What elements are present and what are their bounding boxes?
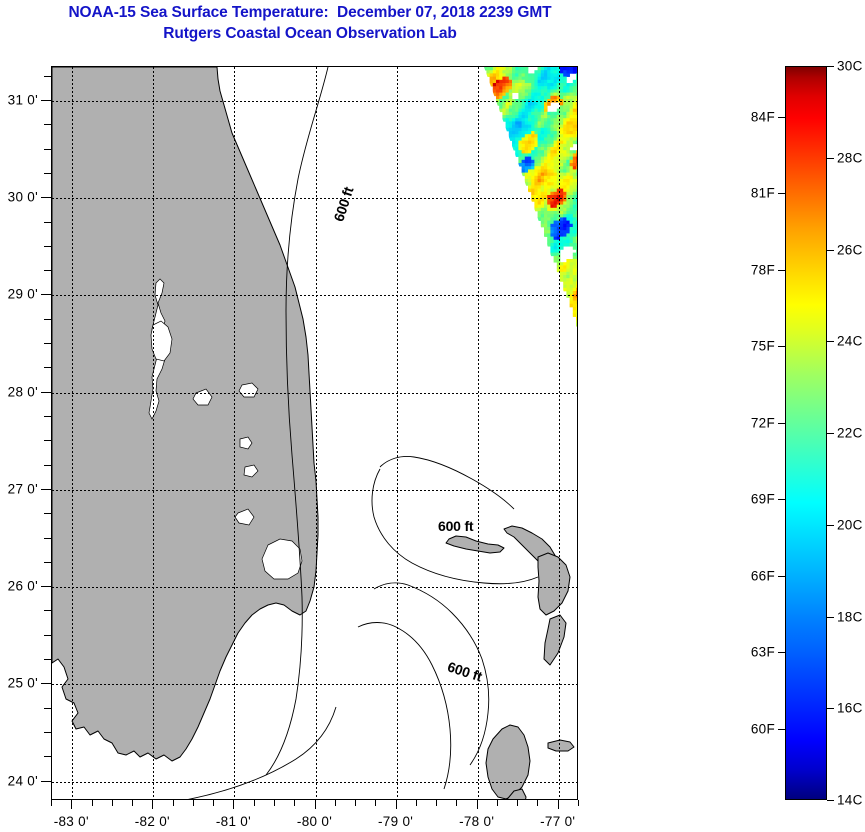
contour-600ft-atlantic — [266, 67, 328, 775]
colorbar-label-celsius-6: 18C — [837, 609, 863, 624]
colorbar-tick-celsius-3 — [827, 341, 834, 342]
xtick-minor — [92, 800, 93, 806]
colorbar-label-fahrenheit-1: 81F — [751, 186, 775, 201]
xtick-minor — [335, 800, 336, 806]
ytick-minor — [44, 756, 51, 757]
ytick-minor — [44, 416, 51, 417]
gridline-lat-1 — [52, 684, 577, 685]
axis-label-lon-2: -81 0' — [216, 814, 251, 829]
xtick-minor — [213, 800, 214, 806]
ytick-minor — [44, 708, 51, 709]
axis-label-lat-0: 24 0' — [0, 773, 38, 788]
ytick-minor — [44, 222, 51, 223]
chart-title: NOAA-15 Sea Surface Temperature: Decembe… — [0, 2, 620, 44]
colorbar-label-fahrenheit-6: 66F — [751, 568, 775, 583]
colorbar-label-celsius-5: 20C — [837, 517, 863, 532]
xtick-minor — [233, 800, 234, 809]
colorbar-tick-fahrenheit-3 — [778, 346, 785, 347]
ytick-minor — [44, 732, 51, 733]
xtick-minor — [173, 800, 174, 806]
ytick-minor — [44, 124, 51, 125]
axis-label-lat-2: 26 0' — [0, 579, 38, 594]
xtick-minor — [294, 800, 295, 806]
axis-label-lat-4: 28 0' — [0, 384, 38, 399]
gridline-lon-4 — [397, 67, 398, 799]
map-plot-area[interactable]: 600 ft600 ft600 ft600 ft600 ft — [51, 66, 578, 800]
colorbar-tick-celsius-2 — [827, 250, 834, 251]
ytick-minor — [44, 343, 51, 344]
ytick-minor — [44, 610, 51, 611]
colorbar-label-celsius-7: 16C — [837, 701, 863, 716]
gridline-lon-6 — [559, 67, 560, 799]
axis-label-lat-3: 27 0' — [0, 481, 38, 496]
axis-label-lat-1: 25 0' — [0, 676, 38, 691]
colorbar-tick-fahrenheit-8 — [778, 729, 785, 730]
xtick-minor — [456, 800, 457, 806]
xtick-minor — [497, 800, 498, 806]
colorbar-tick-fahrenheit-6 — [778, 576, 785, 577]
title-line-1: NOAA-15 Sea Surface Temperature: Decembe… — [0, 2, 620, 23]
xtick-minor — [132, 800, 133, 806]
title-line-2: Rutgers Coastal Ocean Observation Lab — [0, 23, 620, 44]
colorbar-label-celsius-0: 30C — [837, 59, 863, 74]
ytick-minor — [44, 76, 51, 77]
colorbar-tick-celsius-6 — [827, 617, 834, 618]
axis-label-lat-5: 29 0' — [0, 287, 38, 302]
xtick-minor — [51, 800, 52, 806]
axis-label-lon-0: -83 0' — [54, 814, 89, 829]
gridline-lat-2 — [52, 587, 577, 588]
contour-600ft-bahama-north — [380, 456, 514, 509]
axis-label-lat-6: 30 0' — [0, 190, 38, 205]
ytick-minor — [44, 465, 51, 466]
xtick-minor — [578, 800, 579, 806]
gridline-lon-5 — [478, 67, 479, 799]
colorbar-tick-fahrenheit-0 — [778, 117, 785, 118]
gridline-lat-3 — [52, 490, 577, 491]
colorbar-label-fahrenheit-3: 75F — [751, 339, 775, 354]
axis-label-lon-1: -82 0' — [135, 814, 170, 829]
axis-label-lon-6: -77 0' — [540, 814, 575, 829]
xtick-minor — [355, 800, 356, 806]
ytick-minor — [41, 100, 51, 101]
xtick-minor — [152, 800, 153, 809]
colorbar-label-celsius-3: 24C — [837, 334, 863, 349]
gridline-lon-0 — [72, 67, 73, 799]
map-clip: 600 ft600 ft600 ft600 ft600 ft — [52, 67, 577, 799]
colorbar-tick-fahrenheit-5 — [778, 499, 785, 500]
ytick-minor — [44, 440, 51, 441]
xtick-minor — [416, 800, 417, 806]
colorbar-tick-celsius-7 — [827, 708, 834, 709]
colorbar-label-celsius-4: 22C — [837, 426, 863, 441]
ytick-minor — [44, 173, 51, 174]
gridline-lat-0 — [52, 782, 577, 783]
xtick-minor — [315, 800, 316, 809]
xtick-minor — [396, 800, 397, 809]
gridline-lat-4 — [52, 393, 577, 394]
colorbar-tick-celsius-5 — [827, 525, 834, 526]
ytick-minor — [41, 586, 51, 587]
colorbar-label-fahrenheit-2: 78F — [751, 262, 775, 277]
ytick-minor — [44, 367, 51, 368]
gridline-lon-2 — [234, 67, 235, 799]
xtick-minor — [274, 800, 275, 806]
gridline-lat-5 — [52, 295, 577, 296]
colorbar-label-fahrenheit-4: 72F — [751, 415, 775, 430]
ytick-minor — [44, 319, 51, 320]
axis-label-lon-3: -80 0' — [297, 814, 332, 829]
xtick-minor — [71, 800, 72, 809]
colorbar-label-celsius-2: 26C — [837, 242, 863, 257]
gridline-lat-7 — [52, 101, 577, 102]
xtick-minor — [254, 800, 255, 806]
xtick-minor — [477, 800, 478, 809]
ytick-minor — [41, 294, 51, 295]
ytick-minor — [41, 392, 51, 393]
colorbar-tick-fahrenheit-2 — [778, 270, 785, 271]
ytick-minor — [44, 149, 51, 150]
bathymetry-contour-layer — [52, 67, 577, 799]
colorbar-label-fahrenheit-7: 63F — [751, 645, 775, 660]
ytick-minor — [44, 635, 51, 636]
ytick-minor — [44, 246, 51, 247]
axis-label-lon-4: -79 0' — [378, 814, 413, 829]
contour-600ft-lower — [358, 623, 451, 790]
xtick-minor — [112, 800, 113, 806]
xtick-minor — [375, 800, 376, 806]
ytick-minor — [41, 489, 51, 490]
gridline-lon-3 — [316, 67, 317, 799]
colorbar-tick-fahrenheit-7 — [778, 652, 785, 653]
ytick-minor — [44, 659, 51, 660]
xtick-minor — [558, 800, 559, 809]
sst-colorbar[interactable]: 30C28C26C24C22C20C18C16C14C84F81F78F75F7… — [785, 66, 827, 800]
colorbar-tick-fahrenheit-4 — [778, 423, 785, 424]
xtick-minor — [537, 800, 538, 806]
gridline-lon-1 — [153, 67, 154, 799]
xtick-minor — [517, 800, 518, 806]
colorbar-tick-celsius-8 — [827, 800, 834, 801]
xtick-minor — [193, 800, 194, 806]
colorbar-label-fahrenheit-8: 60F — [751, 721, 775, 736]
colorbar-label-fahrenheit-0: 84F — [751, 109, 775, 124]
colorbar-gradient — [785, 66, 827, 800]
axis-label-lon-5: -78 0' — [459, 814, 494, 829]
contour-600ft-keys — [52, 707, 336, 799]
colorbar-tick-celsius-4 — [827, 433, 834, 434]
colorbar-tick-celsius-1 — [827, 158, 834, 159]
xtick-minor — [436, 800, 437, 806]
axis-label-lat-7: 31 0' — [0, 93, 38, 108]
colorbar-tick-celsius-0 — [827, 66, 834, 67]
ytick-minor — [44, 562, 51, 563]
ytick-minor — [44, 270, 51, 271]
ytick-minor — [41, 781, 51, 782]
colorbar-label-fahrenheit-5: 69F — [751, 492, 775, 507]
ytick-minor — [41, 197, 51, 198]
colorbar-label-celsius-1: 28C — [837, 150, 863, 165]
ytick-minor — [41, 683, 51, 684]
ytick-minor — [44, 513, 51, 514]
colorbar-tick-fahrenheit-1 — [778, 193, 785, 194]
gridline-lat-6 — [52, 198, 577, 199]
colorbar-label-celsius-8: 14C — [837, 793, 863, 808]
contour-label-600ft-1: 600 ft — [438, 518, 473, 534]
ytick-minor — [44, 538, 51, 539]
